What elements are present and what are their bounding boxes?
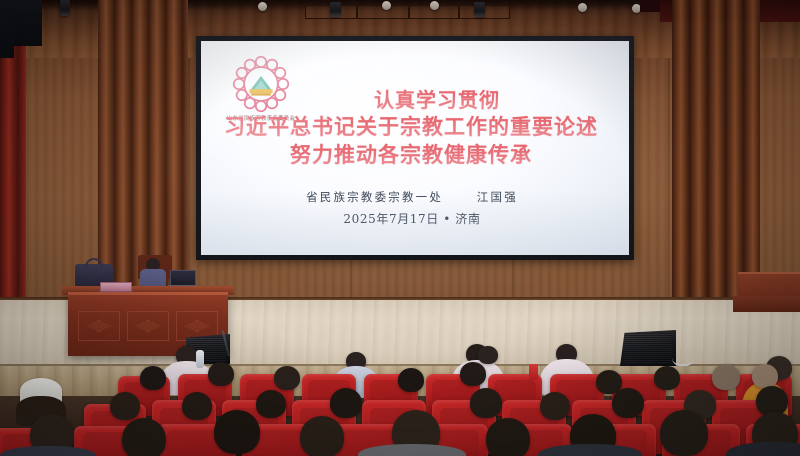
audience-head-bald xyxy=(752,364,778,388)
audience-head xyxy=(274,366,300,390)
stage-light-icon xyxy=(382,1,391,10)
projection-screen-frame: 山东省民族宗教事务委员会 认真学习贯彻 习近平总书记关于宗教工作的重要论述 努力… xyxy=(196,36,634,260)
audience-head xyxy=(654,366,680,390)
slide-subtitle: 省民族宗教委宗教一处 江国强 2025年7月17日 • 济南 xyxy=(201,189,623,227)
audience-head xyxy=(540,392,570,420)
audience-head xyxy=(478,346,498,364)
presentation-slide: 山东省民族宗教事务委员会 认真学习贯彻 习近平总书记关于宗教工作的重要论述 努力… xyxy=(201,41,629,255)
audience-head xyxy=(660,410,708,456)
audience-head xyxy=(612,388,644,418)
audience-head xyxy=(214,410,260,454)
water-bottle xyxy=(196,350,204,368)
audience-head-bald xyxy=(712,364,740,390)
laptop-screen xyxy=(170,270,196,286)
wall-shadow xyxy=(0,0,14,58)
stage-light-icon xyxy=(60,0,70,16)
title-line-1: 认真学习贯彻 xyxy=(201,87,621,113)
audience-head xyxy=(110,392,140,420)
audience-head xyxy=(460,362,486,386)
stage-light-icon xyxy=(330,2,341,17)
audience-head xyxy=(208,362,234,386)
projection-screen: 山东省民族宗教事务委员会 认真学习贯彻 习近平总书记关于宗教工作的重要论述 努力… xyxy=(201,41,629,255)
audience-head xyxy=(470,388,502,418)
stage-light-icon xyxy=(430,1,439,10)
curtain-left-red xyxy=(0,40,26,340)
audience-head xyxy=(140,366,166,390)
audience-head xyxy=(486,418,530,456)
presenter-line: 省民族宗教委宗教一处 江国强 xyxy=(201,189,623,205)
date-location: 2025年7月17日 • 济南 xyxy=(201,210,623,227)
nameplate xyxy=(100,282,132,292)
audience-head xyxy=(256,390,286,418)
stage-side-cabinet-base xyxy=(733,296,800,312)
auditorium-scene: 山东省民族宗教事务委员会 认真学习贯彻 习近平总书记关于宗教工作的重要论述 努力… xyxy=(0,0,800,456)
stage-light-icon xyxy=(474,2,485,17)
audience-head xyxy=(330,388,362,418)
title-line-2: 习近平总书记关于宗教工作的重要论述 xyxy=(201,113,621,141)
audience-head xyxy=(182,392,212,420)
beverage-can xyxy=(529,364,538,380)
stage-light-icon xyxy=(258,2,267,11)
audience-head xyxy=(300,416,344,456)
title-line-3: 努力推动各宗教健康传承 xyxy=(201,141,621,169)
slide-title: 认真学习贯彻 习近平总书记关于宗教工作的重要论述 努力推动各宗教健康传承 xyxy=(201,87,621,169)
stage-monitor-speaker xyxy=(620,330,676,366)
presenter-department: 省民族宗教委宗教一处 xyxy=(306,190,443,204)
presenter-name: 江国强 xyxy=(477,190,518,204)
audience-head xyxy=(398,368,424,392)
audience-head xyxy=(122,418,166,456)
stage-light-icon xyxy=(578,3,587,12)
